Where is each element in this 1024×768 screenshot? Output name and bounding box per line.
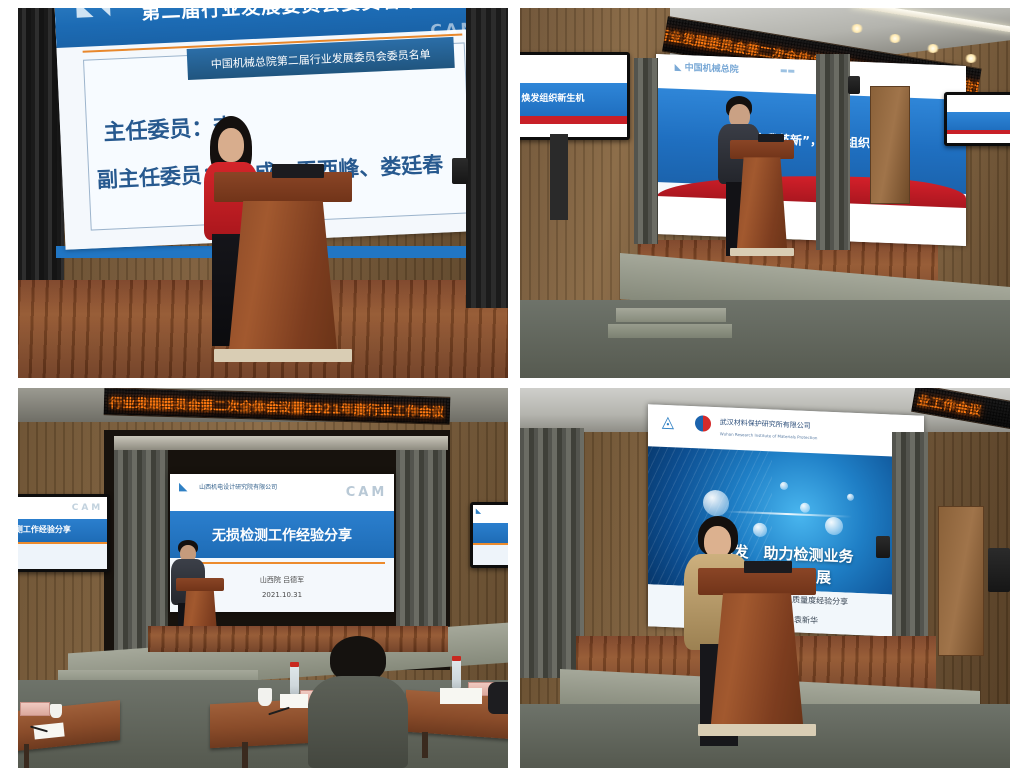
side-monitor-left: 焕发组织新生机 (520, 52, 630, 140)
podium-body (736, 157, 787, 256)
water-bottle (290, 666, 299, 694)
tea-cup (258, 688, 272, 706)
slide-accent-rule (179, 562, 385, 565)
stage-step (616, 308, 726, 322)
audience-person (488, 682, 508, 714)
ceiling-downlight (850, 24, 864, 33)
photo-top-right: 行业发展委员会第二次全体会议暨2021年度行业工作会议 ◣ 中国机械总院 ▬▬ … (520, 8, 1010, 378)
monitor-stand (550, 134, 568, 220)
slide-company-name: 山西机电设计研究院有限公司 (199, 482, 277, 491)
stage-curtain-right (892, 432, 928, 662)
side-monitor-left: 测工作经验分享 CAM (18, 494, 110, 572)
hall-floor (520, 300, 1010, 378)
podium-top (176, 578, 224, 591)
stage-valance (114, 436, 448, 450)
table-leg (24, 744, 29, 768)
slide-top-right: ◣ 中国机械总院 ▬▬ 一、“自我革新”，焕发组织新生机 (656, 54, 966, 246)
podium-base (730, 248, 794, 256)
photo-bottom-right: 业工作会议 ◬ 武汉材料保护研究所有限公司 Wuhan Research Ins… (520, 388, 1010, 768)
stage-curtain-right (816, 54, 850, 250)
circle-logo-icon (695, 415, 711, 432)
podium (214, 172, 352, 362)
photo-collage: ◣◥ 第二届行业发展委员会委员名单 CAM 中国机械总院第二届行业发展委员会委员… (0, 0, 1024, 768)
wall-speaker-box (876, 536, 890, 558)
speaker-head (218, 128, 244, 162)
photo-top-left: ◣◥ 第二届行业发展委员会委员名单 CAM 中国机械总院第二届行业发展委员会委员… (18, 8, 508, 378)
cam-logo-icon: ◣◥ (76, 8, 111, 21)
podium-top (730, 140, 794, 159)
podium (730, 140, 794, 256)
cam-corner-mark: CAM (72, 503, 104, 513)
stage-curtain-right (466, 8, 508, 308)
side-monitor-text: 测工作经验分享 (18, 524, 105, 535)
podium-body (228, 201, 338, 363)
hall-door (870, 86, 910, 204)
podium-base (698, 724, 816, 736)
podium (698, 568, 816, 736)
bottle-cap (452, 656, 461, 661)
wall-speaker-box (848, 76, 860, 94)
side-monitor-text: 焕发组织新生机 (521, 91, 622, 104)
projection-screen: ◣ 中国机械总院 ▬▬ 一、“自我革新”，焕发组织新生机 (656, 54, 966, 246)
stage-step (608, 324, 732, 338)
triangle-logo-icon: ◬ (662, 411, 674, 431)
audience-torso (308, 676, 408, 768)
laptop (272, 164, 324, 178)
wall-speaker-box (988, 548, 1010, 592)
wall-speaker-box (452, 158, 468, 184)
laptop (758, 134, 784, 142)
tea-cup (50, 704, 62, 718)
hall-door (938, 506, 984, 656)
company-logo-icon: ◣ (179, 480, 187, 493)
audience-person (308, 636, 408, 768)
ceiling-downlight (926, 44, 940, 53)
cam-corner-mark: CAM (346, 485, 388, 500)
bottle-cap (290, 662, 299, 667)
company-logo-icon: ◣ (476, 507, 481, 515)
stage-curtain-left (520, 428, 584, 678)
stage-curtain-left (634, 58, 658, 244)
ceiling-downlight (964, 54, 978, 63)
led-banner-text: 行业发展委员会第二次全体会议暨2021年度行业工作会议 (109, 392, 445, 420)
institute-logo-icon: ◣ 中国机械总院 (675, 60, 739, 75)
side-monitor-right: ◣ (470, 502, 508, 568)
table-leg (242, 742, 248, 768)
paper-sheet (440, 688, 482, 704)
podium-base (214, 349, 352, 362)
partner-logo-icon: ▬▬ (780, 66, 795, 76)
laptop (744, 561, 792, 573)
table-leg (422, 732, 428, 758)
paper-sheet (280, 694, 308, 708)
podium-body (710, 593, 804, 736)
name-card (20, 702, 50, 716)
photo-bottom-left: 行业发展委员会第二次全体会议暨2021年度行业工作会议 ◣ 山西机电设计研究院有… (18, 388, 508, 768)
side-monitor-right (944, 92, 1010, 146)
ceiling-downlight (888, 34, 902, 43)
water-bottle (452, 660, 461, 688)
